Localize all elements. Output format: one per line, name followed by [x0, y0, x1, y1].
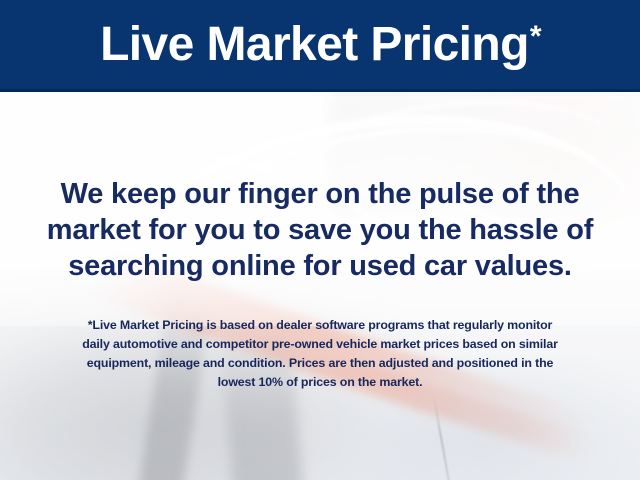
disclaimer-line-3: equipment, mileage and condition. Prices…	[0, 354, 640, 373]
page-title-asterisk: *	[530, 20, 541, 53]
header-banner: Live Market Pricing*	[0, 0, 640, 91]
headline-line-3: searching online for used car values.	[0, 248, 640, 284]
live-market-pricing-banner: Live Market Pricing* We keep our finger …	[0, 0, 640, 480]
disclaimer-line-1: *Live Market Pricing is based on dealer …	[0, 316, 640, 335]
page-title: Live Market Pricing*	[100, 21, 540, 69]
disclaimer-line-4: lowest 10% of prices on the market.	[0, 373, 640, 392]
header-banner-bottom-edge	[0, 89, 640, 92]
headline-line-2: market for you to save you the hassle of	[0, 212, 640, 248]
headline-line-1: We keep our finger on the pulse of the	[0, 176, 640, 212]
disclaimer-text: *Live Market Pricing is based on dealer …	[0, 316, 640, 392]
headline-text: We keep our finger on the pulse of the m…	[0, 176, 640, 284]
page-title-text: Live Market Pricing	[100, 18, 529, 71]
disclaimer-line-2: daily automotive and competitor pre-owne…	[0, 335, 640, 354]
